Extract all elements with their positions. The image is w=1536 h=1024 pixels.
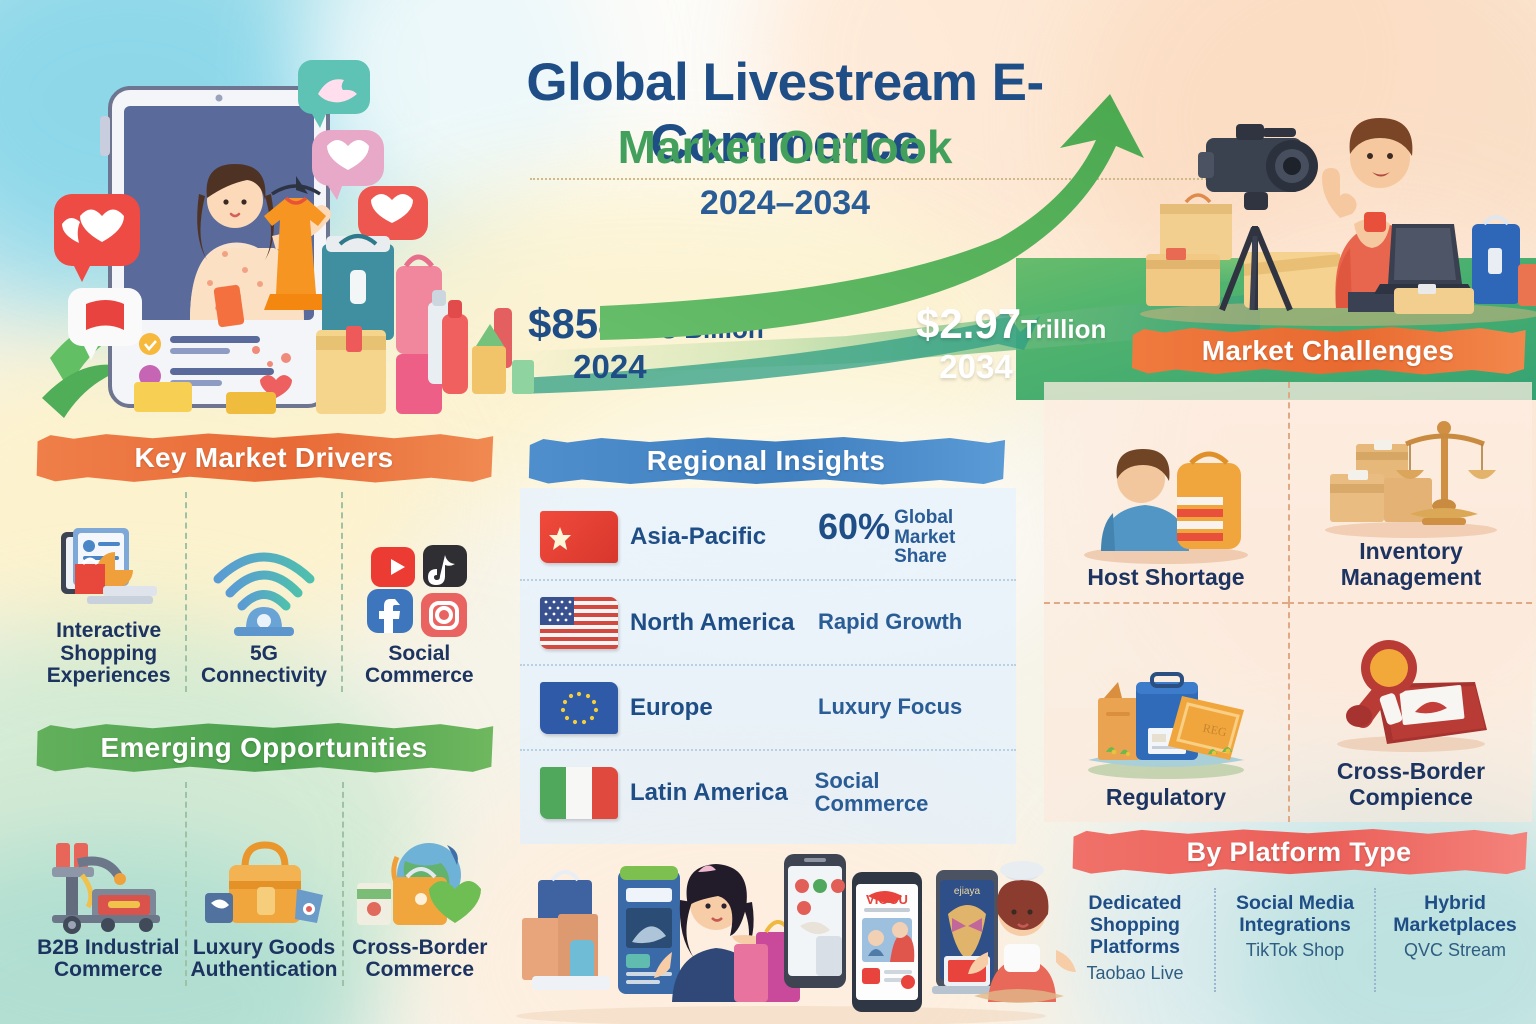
emerging-opportunities-card: B2B Industrial Commerce Luxury Goods Aut… (32, 782, 496, 986)
product-bottles-illustration (420, 250, 550, 420)
platform-example: QVC Stream (1381, 940, 1529, 961)
globe-parcel-icon (348, 833, 493, 937)
regional-row-europe[interactable]: Europe Luxury Focus (520, 664, 1016, 749)
driver-label: 5G Connectivity (191, 643, 336, 688)
driver-item-5g-connectivity[interactable]: 5G Connectivity (185, 492, 340, 692)
region-value-sub: Global Market Share (894, 508, 990, 568)
svg-text:VIOOU: VIOOU (866, 892, 908, 907)
platform-item-social-media[interactable]: Social Media Integrations TikTok Shop (1214, 888, 1374, 992)
market-challenges-card: Host Shortage (1044, 382, 1532, 822)
platform-example: TikTok Shop (1221, 940, 1369, 961)
opportunity-item-b2b-industrial[interactable]: B2B Industrial Commerce (32, 782, 185, 986)
upward-growth-arrow-icon (930, 88, 1536, 388)
challenge-label: Inventory Management (1296, 539, 1526, 590)
emerging-opportunities-heading: Emerging Opportunities (32, 722, 496, 774)
region-name: Europe (630, 694, 818, 722)
opportunity-item-cross-border[interactable]: Cross-Border Commerce (342, 782, 497, 986)
platform-item-dedicated[interactable]: Dedicated Shopping Platforms Taobao Live (1056, 888, 1214, 992)
wifi-signal-icon (191, 539, 336, 643)
driver-item-social-commerce[interactable]: Social Commerce (341, 492, 496, 692)
by-platform-type-heading: By Platform Type (1068, 828, 1530, 876)
region-name: Asia-Pacific (630, 523, 818, 551)
regional-insights-heading: Regional Insights (524, 436, 1008, 486)
challenge-label: Regulatory (1106, 785, 1226, 810)
regional-row-latin-america[interactable]: Latin America Social Commerce (520, 749, 1016, 834)
challenge-item-cross-border-compience[interactable]: Cross-Border Compience (1288, 602, 1532, 822)
key-market-drivers-heading: Key Market Drivers (32, 432, 496, 484)
region-value: Luxury Focus (818, 696, 962, 719)
regional-heading-text: Regional Insights (647, 445, 885, 477)
platform-type: Dedicated Shopping Platforms (1061, 892, 1209, 959)
industrial-machinery-icon (36, 833, 181, 937)
regional-row-asia-pacific[interactable]: Asia-Pacific 60% Global Market Share (520, 494, 1016, 579)
magnifier-document-icon (1296, 637, 1526, 759)
person-with-bag-icon (1050, 443, 1282, 565)
regional-insights-card: Asia-Pacific 60% Global Market Share (520, 488, 1016, 844)
china-flag-icon (540, 511, 618, 563)
boxes-scale-icon (1296, 417, 1526, 539)
by-platform-type-card: Dedicated Shopping Platforms Taobao Live… (1056, 888, 1534, 992)
platform-heading-text: By Platform Type (1187, 837, 1412, 868)
packages-document-icon: REG (1050, 663, 1282, 785)
opportunity-label: Luxury Goods Authentication (191, 937, 338, 982)
opportunity-item-luxury-goods[interactable]: Luxury Goods Authentication (185, 782, 342, 986)
platform-type: Hybrid Marketplaces (1381, 892, 1529, 936)
interactive-shopping-tablet-icon (36, 516, 181, 620)
region-value: Rapid Growth (818, 611, 962, 634)
opportunity-label: Cross-Border Commerce (348, 937, 493, 982)
challenge-item-regulatory[interactable]: REG Regulatory (1044, 602, 1288, 822)
challenge-item-inventory-management[interactable]: Inventory Management (1288, 382, 1532, 602)
regional-row-north-america[interactable]: North America Rapid Growth (520, 579, 1016, 664)
mobile-shopping-people-illustration: VIOOU ejiaya (516, 852, 1046, 1024)
european-union-flag-icon (540, 682, 618, 734)
driver-label: Social Commerce (347, 643, 492, 688)
region-value: Social Commerce (815, 770, 996, 816)
value-2024-year: 2024 (573, 348, 646, 385)
opportunity-label: B2B Industrial Commerce (36, 937, 181, 982)
driver-item-interactive-shopping[interactable]: Interactive Shopping Experiences (32, 492, 185, 692)
platform-example: Taobao Live (1061, 963, 1209, 984)
region-name: North America (630, 609, 818, 637)
usa-flag-icon (540, 597, 618, 649)
italy-flag-icon (540, 767, 618, 819)
region-name: Latin America (630, 779, 815, 807)
social-media-apps-icon (347, 539, 492, 643)
platform-type: Social Media Integrations (1221, 892, 1369, 936)
region-value: 60% (818, 506, 890, 548)
opportunities-heading-text: Emerging Opportunities (100, 732, 427, 764)
hero-livestream-illustration (40, 58, 440, 418)
key-market-drivers-card: Interactive Shopping Experiences 5G Conn… (32, 492, 496, 692)
svg-text:ejiaya: ejiaya (954, 886, 981, 897)
challenge-label: Cross-Border Compience (1296, 759, 1526, 810)
challenge-item-host-shortage[interactable]: Host Shortage (1044, 382, 1288, 602)
luxury-handbag-icon (191, 833, 338, 937)
driver-label: Interactive Shopping Experiences (36, 620, 181, 688)
drivers-heading-text: Key Market Drivers (134, 442, 393, 474)
platform-item-hybrid[interactable]: Hybrid Marketplaces QVC Stream (1374, 888, 1534, 992)
challenge-label: Host Shortage (1087, 565, 1244, 590)
